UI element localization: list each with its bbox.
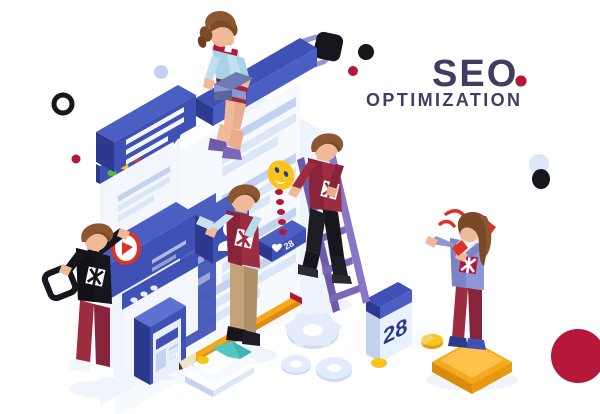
gear-small-right: [316, 357, 352, 382]
deco-red-dot-left: [72, 155, 81, 164]
deco-blue-dot-left: [154, 65, 168, 79]
illustration-canvas: SEO OPTIMIZATION: [0, 0, 600, 414]
headline-accent-dot: [516, 76, 527, 87]
page-subtitle: OPTIMIZATION: [366, 90, 522, 110]
page-title: SEO: [432, 53, 518, 95]
gear-small-left: [281, 355, 311, 375]
deco-black-dot-right: [532, 169, 550, 189]
deco-red-dot-top: [348, 66, 358, 76]
